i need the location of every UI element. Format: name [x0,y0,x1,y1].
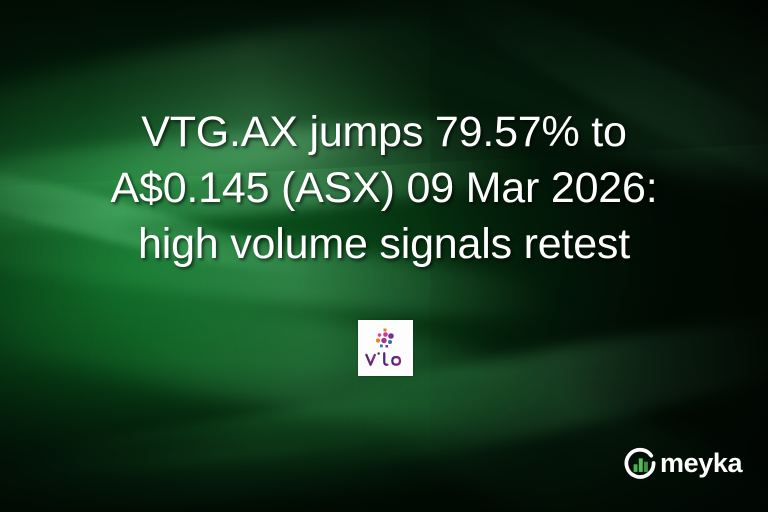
social-share-card: VTG.AX jumps 79.57% to A$0.145 (ASX) 09 … [0,0,768,512]
brand-logo-meyka[interactable]: meyka [623,446,742,480]
brand-wordmark: meyka [660,450,742,477]
bar-chart-ring-icon [623,446,657,480]
headline-line-1: VTG.AX jumps 79.57% to [40,104,728,160]
headline-line-2: A$0.145 (ASX) 09 Mar 2026: [40,160,728,216]
vita-wordmark [365,351,407,368]
vita-dots-icon [372,328,400,350]
headline-line-3: high volume signals retest [40,216,728,272]
headline: VTG.AX jumps 79.57% to A$0.145 (ASX) 09 … [0,104,768,272]
company-logo-vita [358,320,413,376]
